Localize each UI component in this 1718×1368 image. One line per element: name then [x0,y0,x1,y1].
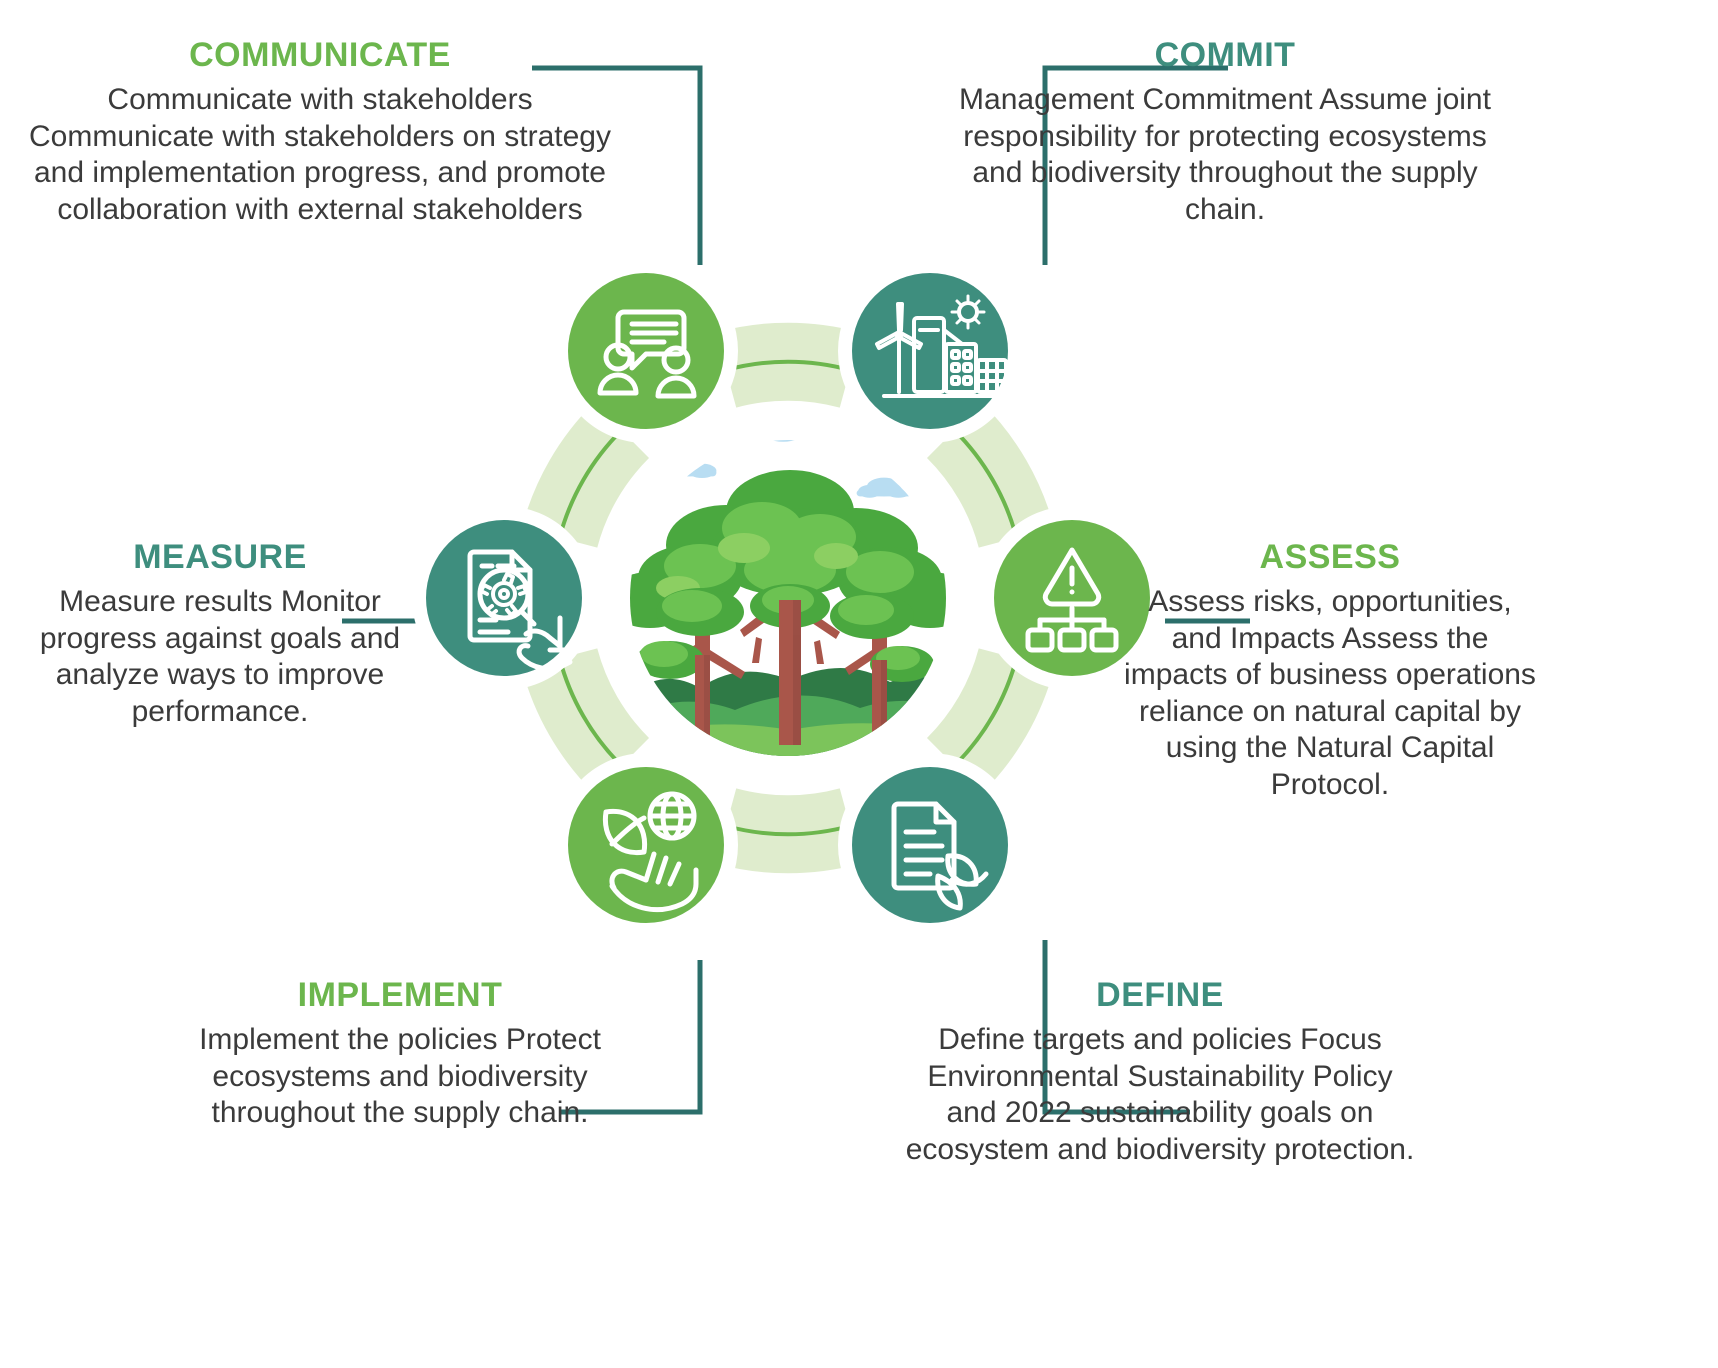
step-body-measure: Measure results Monitor progress against… [10,584,430,730]
step-block-define: DEFINE Define targets and policies Focus… [900,978,1420,1168]
warning-hierarchy-icon [1028,550,1116,650]
hand-globe-leaf-icon [605,794,696,910]
document-magnifier-gear-hand-icon [470,552,572,669]
step-body-define: Define targets and policies Focus Enviro… [900,1022,1420,1168]
step-body-communicate: Communicate with stakeholders Communicat… [20,82,620,228]
cycle-arc-segments [552,362,1023,835]
tree-trunks [665,545,915,750]
arc-segment-lower-left [552,658,621,770]
step-body-commit: Management Commitment Assume joint respo… [945,82,1505,228]
step-heading-measure: MEASURE [10,540,430,574]
tree-canopy-low [636,641,934,682]
step-body-assess: Assess risks, opportunities, and Impacts… [1120,584,1540,804]
step-block-implement: IMPLEMENT Implement the policies Protect… [190,978,610,1132]
step-block-communicate: COMMUNICATE Communicate with stakeholder… [20,38,620,228]
tree-canopy-mid [656,584,914,639]
arc-segment-upper-left [552,426,621,538]
step-heading-assess: ASSESS [1120,540,1540,574]
step-block-commit: COMMIT Management Commitment Assume join… [945,38,1505,228]
people-speech-bubble-icon [600,312,694,396]
arc-segment-bottom [726,826,850,834]
arc-segment-top [726,362,850,370]
step-heading-implement: IMPLEMENT [190,978,610,1012]
step-block-assess: ASSESS Assess risks, opportunities, and … [1120,540,1540,804]
step-body-implement: Implement the policies Protect ecosystem… [190,1022,610,1132]
node-communicate[interactable] [568,273,724,429]
node-halos [412,259,1164,937]
renewable-energy-city-icon [877,296,1010,396]
infographic-canvas: COMMUNICATE Communicate with stakeholder… [0,0,1718,1368]
node-implement[interactable] [568,767,724,923]
cloud-icon [656,410,912,498]
node-define[interactable] [852,767,1008,923]
node-measure[interactable] [426,520,582,676]
step-heading-commit: COMMIT [945,38,1505,72]
arc-segment-upper-right [954,426,1023,538]
step-heading-define: DEFINE [900,978,1420,1012]
arc-segment-lower-right [954,658,1023,770]
node-commit[interactable] [852,273,1010,429]
tree-canopy-main [606,470,974,628]
step-heading-communicate: COMMUNICATE [20,38,620,72]
document-leaves-icon [894,804,986,908]
step-block-measure: MEASURE Measure results Monitor progress… [10,540,430,730]
forest-illustration [606,410,974,761]
